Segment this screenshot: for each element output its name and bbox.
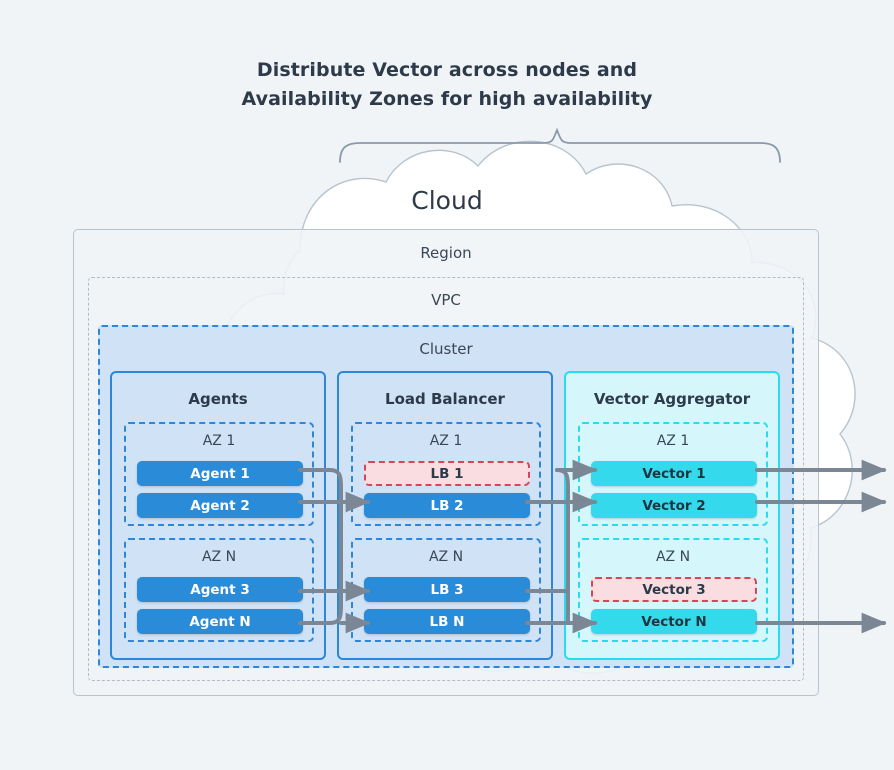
headline-layer: Distribute Vector across nodes and Avail… bbox=[0, 0, 894, 770]
headline-line-1: Distribute Vector across nodes and bbox=[0, 56, 894, 85]
brace-svg bbox=[0, 0, 894, 770]
brace-icon bbox=[340, 130, 780, 162]
headline-line-2: Availability Zones for high availability bbox=[0, 85, 894, 114]
architecture-diagram: Cloud Region VPC Cluster Agents AZ 1 Age… bbox=[0, 0, 894, 770]
page-title: Distribute Vector across nodes and Avail… bbox=[0, 56, 894, 114]
